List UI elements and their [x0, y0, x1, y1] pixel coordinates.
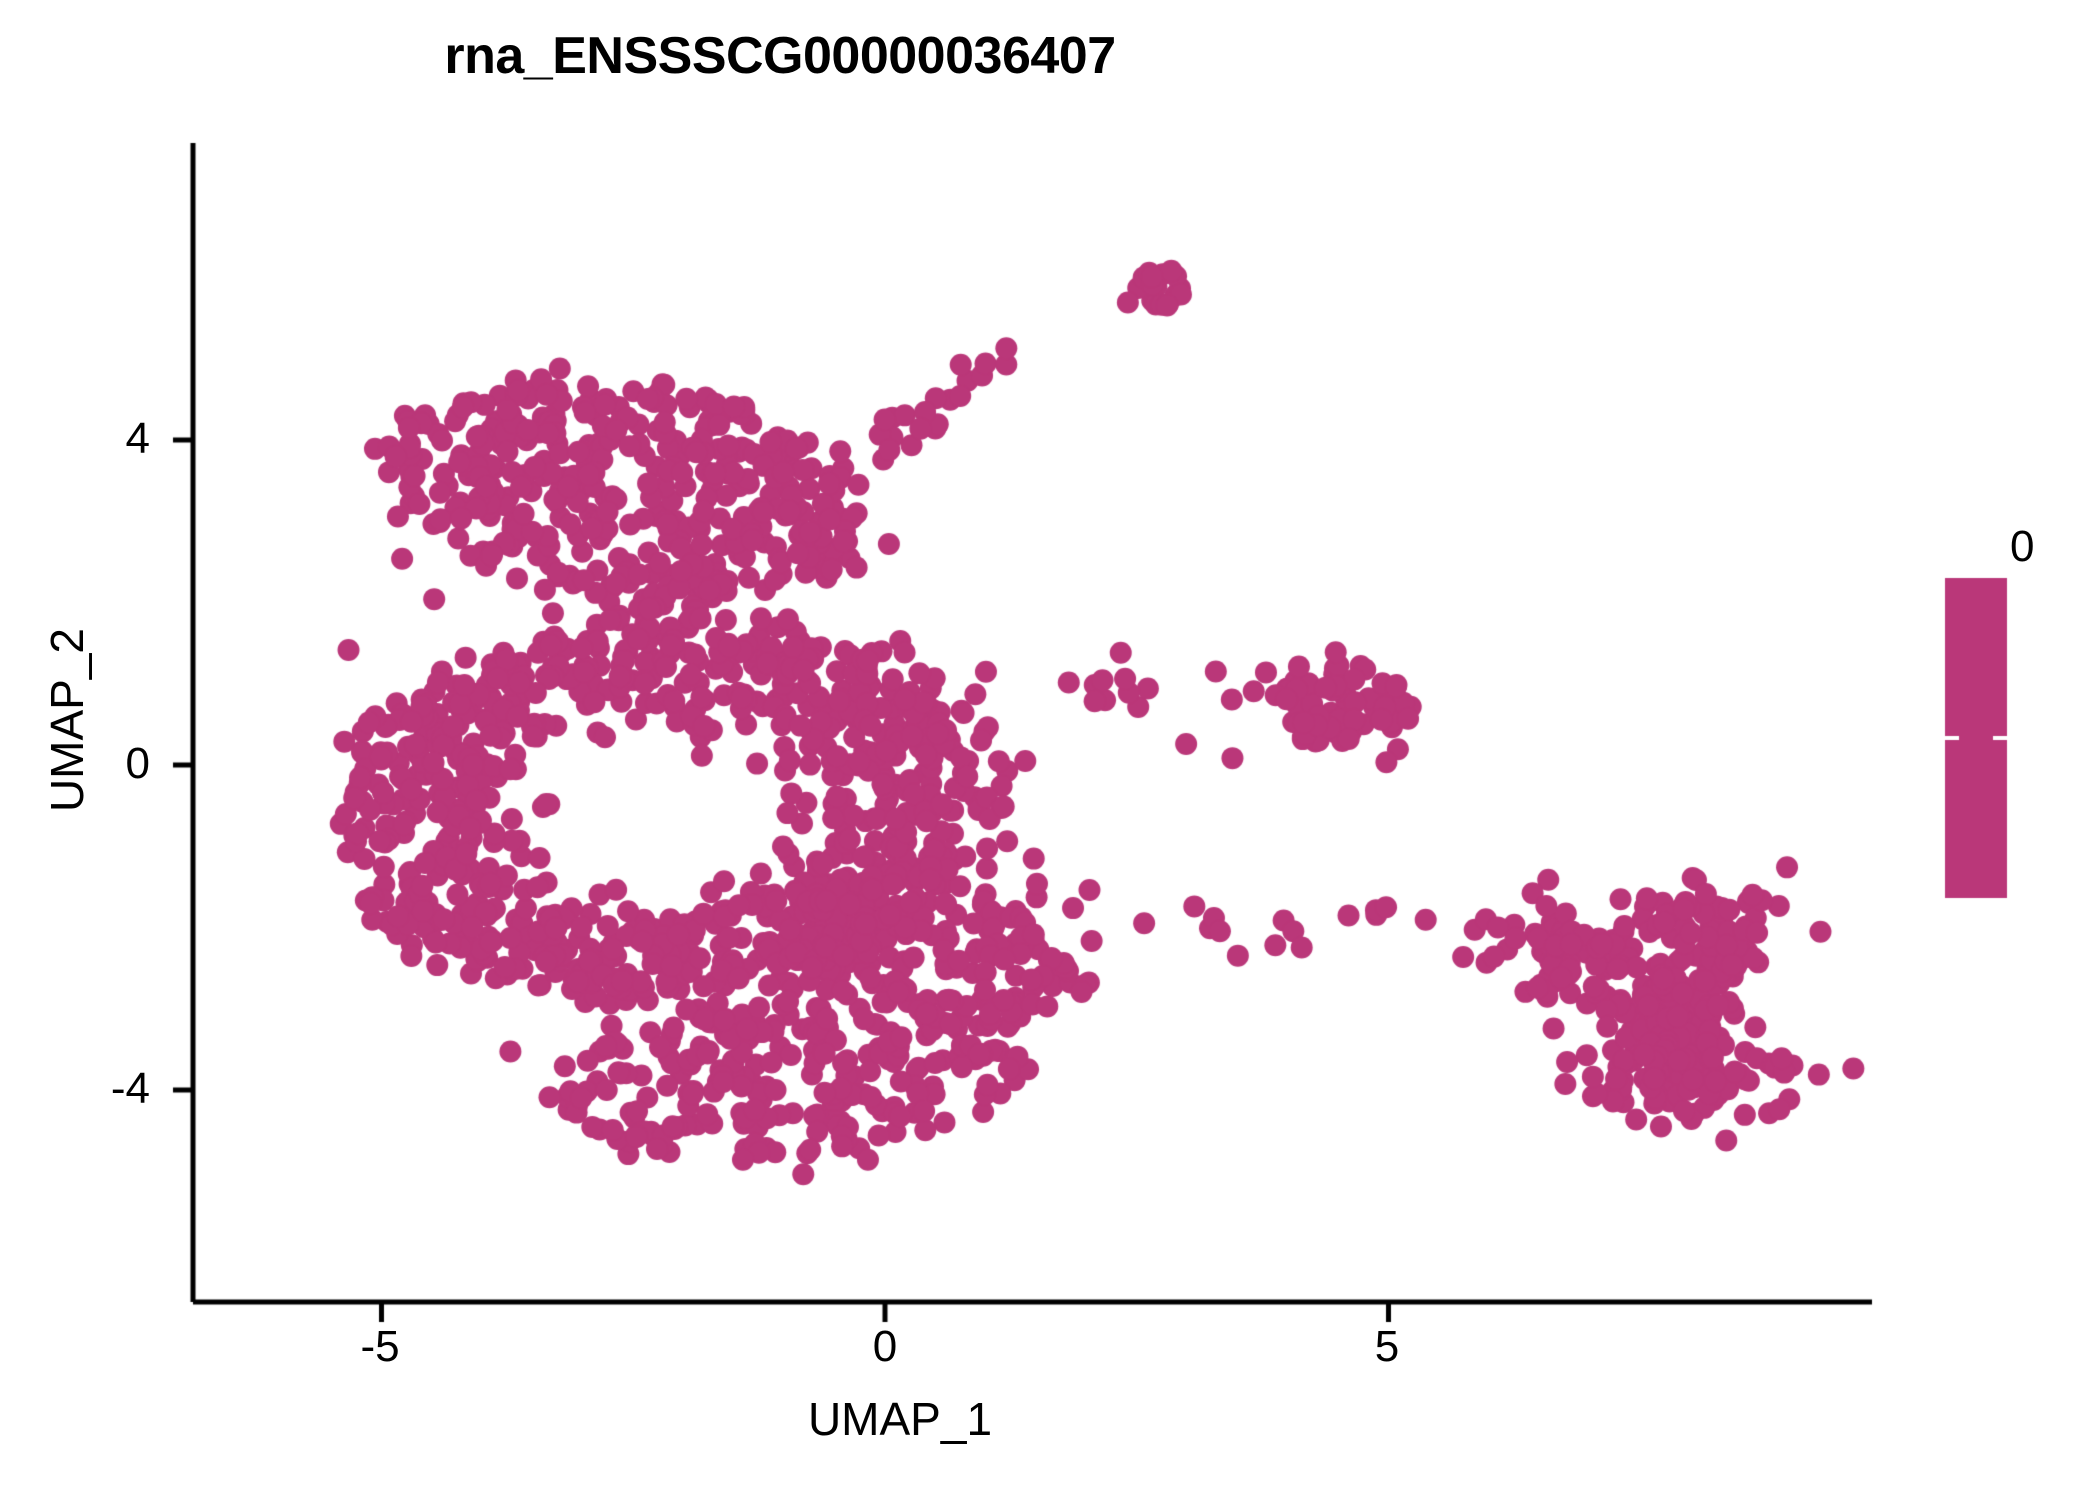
x-tick-label-neg5: -5	[320, 1322, 440, 1372]
y-tick-label-0: 0	[20, 739, 150, 789]
umap-feature-plot: rna_ENSSSCG00000036407 UMAP_1 UMAP_2 -5 …	[0, 0, 2100, 1500]
y-tick-label-4: 4	[20, 414, 150, 464]
colorbar-tick-label: 0	[2010, 522, 2034, 572]
scatter-plot-canvas	[0, 0, 2100, 1500]
x-tick-label-0: 0	[825, 1322, 945, 1372]
x-tick-label-5: 5	[1327, 1322, 1447, 1372]
x-axis-title: UMAP_1	[700, 1392, 1100, 1446]
y-axis-title: UMAP_2	[40, 520, 94, 920]
y-tick-label-neg4: -4	[20, 1064, 150, 1114]
